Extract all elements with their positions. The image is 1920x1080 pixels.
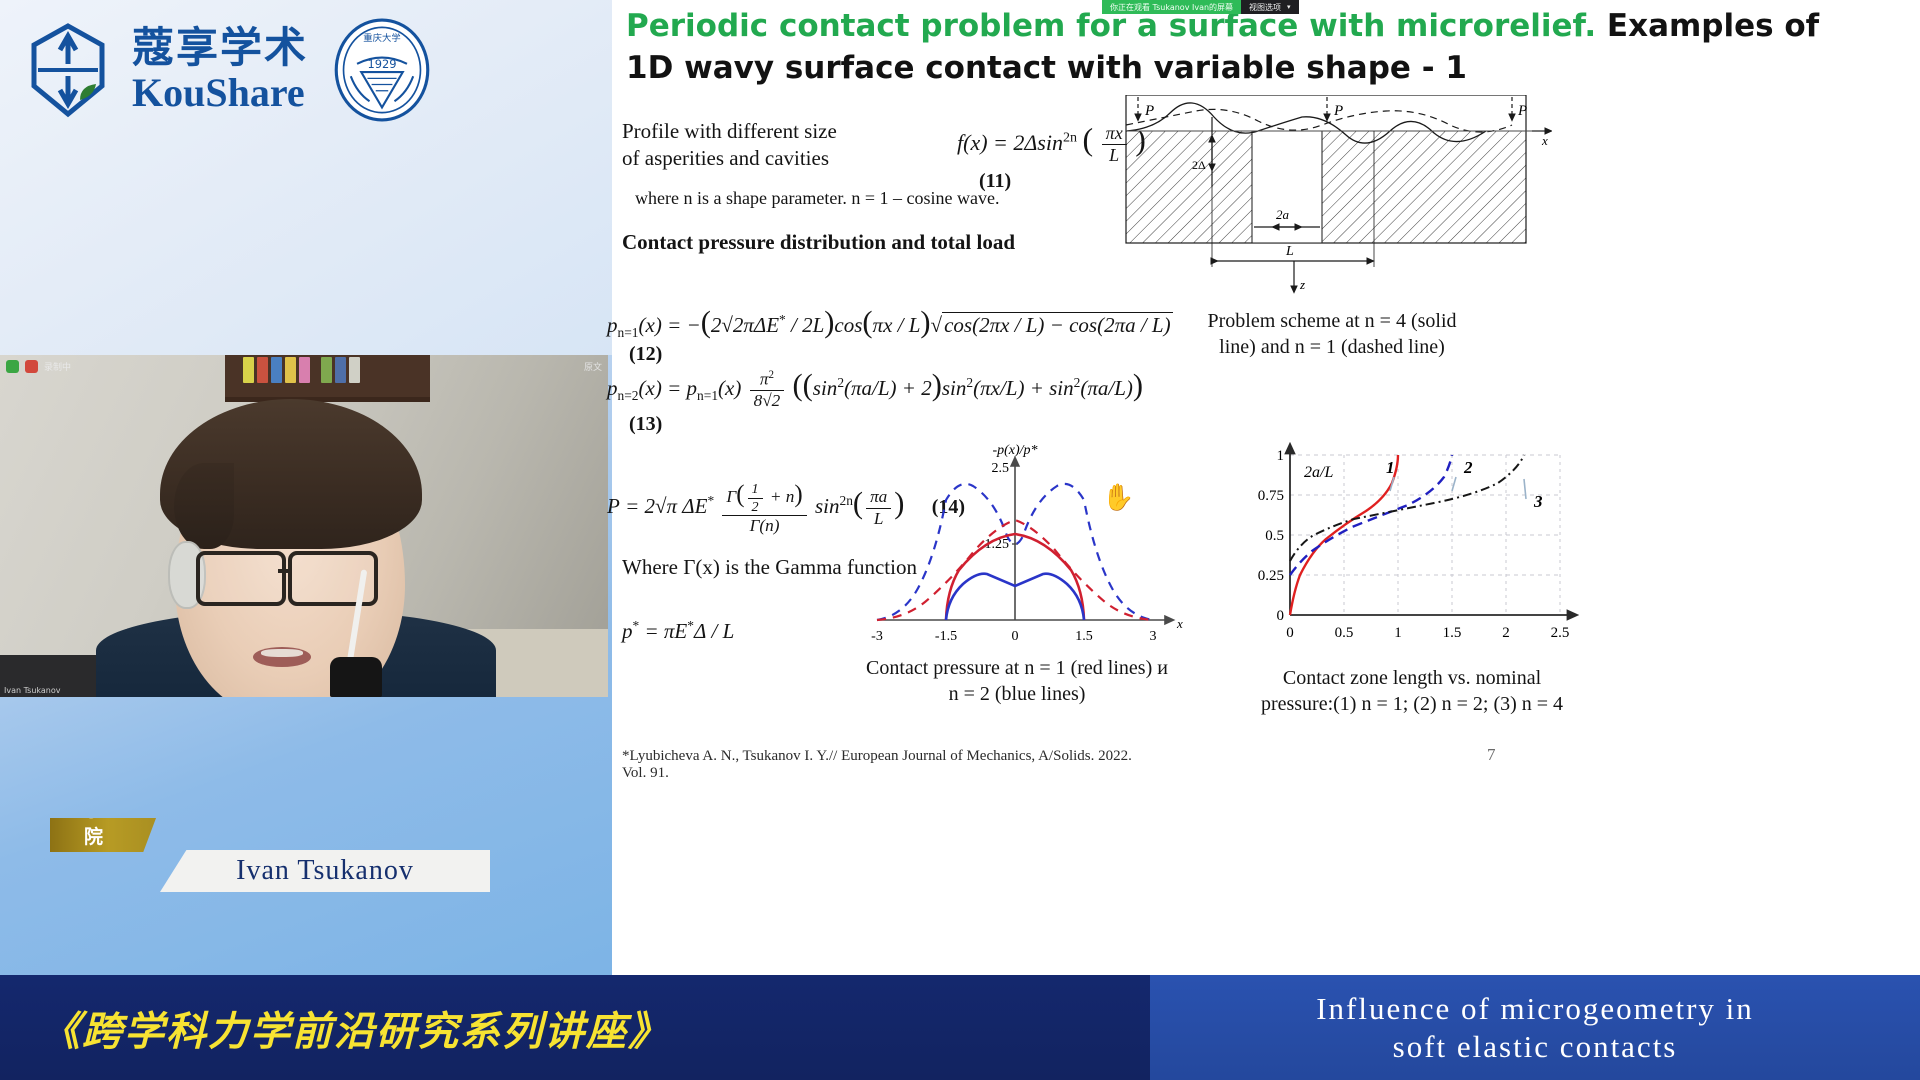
equation-12: pn=1(x) = −(2√2πΔE* / 2L)cos(πx / L)√cos… (607, 305, 1173, 366)
scheme-caption: Problem scheme at n = 4 (solid line) and… (1132, 308, 1532, 360)
brand-wordmark: 蔻享学术 KouShare (132, 27, 308, 113)
chart-b-caption-line1: Contact zone length vs. nominal (1232, 665, 1592, 691)
desk-microphone (330, 657, 382, 697)
chart-a-xtick--1-5: -1.5 (935, 629, 957, 644)
speaker-name-text: Ivan Tsukanov (236, 855, 414, 887)
zoom-screenshare-toolbar: 你正在观看 Tsukanov Ivan的屏幕 视图选项 ▾ (1102, 0, 1299, 14)
view-options-button[interactable]: 视图选项 ▾ (1241, 0, 1299, 14)
webcam-corner-label: 原文 (584, 360, 602, 373)
chart-a-xtick-0: 0 (1012, 629, 1019, 644)
shape-parameter-note: where n is a shape parameter. n = 1 – co… (635, 188, 1000, 209)
chart-a-xtick-1-5: 1.5 (1075, 629, 1093, 644)
chart-b-ytick-0-75: 0.75 (1258, 488, 1284, 504)
chart-b-ytick-0-5: 0.5 (1265, 528, 1284, 544)
speaker-name-band: Ivan Tsukanov (160, 850, 490, 892)
webcam-name-label: Ivan Tsukanov (4, 686, 61, 695)
recording-indicators: 录制中 (6, 360, 71, 373)
chart-b-xtick-2: 2 (1502, 625, 1510, 641)
problem-scheme-diagram: x P P P 2Δ 2a L z (1112, 95, 1552, 300)
chart-a-xtick--3: -3 (871, 629, 883, 644)
recording-label: 录制中 (44, 360, 71, 373)
lecture-title-banner: Influence of microgeometry in soft elast… (1150, 975, 1920, 1080)
chart-a-caption-line2: n = 2 (blue lines) (832, 681, 1202, 707)
svg-text:重庆大学: 重庆大学 (363, 32, 400, 44)
chart-b-series-label-3: 3 (1533, 492, 1543, 511)
scheme-caption-line1: Problem scheme at n = 4 (solid (1132, 308, 1532, 334)
lecture-title-line1: Influence of microgeometry in (1316, 990, 1754, 1028)
contact-zone-length-chart: 1 0.75 0.5 0.25 0 0 0.5 1 1.5 2 2.5 2a/L… (1242, 415, 1582, 645)
left-branding-panel: 蔻享学术 KouShare 1929 重庆大学 (0, 0, 612, 975)
svg-text:P: P (1333, 103, 1343, 119)
p-star-definition: p* = πE*Δ / L (622, 618, 734, 644)
scheme-period-label: L (1285, 244, 1294, 259)
equation-12-tag: (12) (629, 343, 662, 365)
chart-a-xlabel: x (1176, 616, 1183, 631)
slide-page-number: 7 (1487, 745, 1496, 765)
eyeglasses-bridge (278, 569, 290, 573)
screen-share-notice: 你正在观看 Tsukanov Ivan的屏幕 (1102, 0, 1241, 14)
chart-b-ytick-0: 0 (1277, 608, 1285, 624)
affiliation-ribbon: 俄罗斯科学院力学研究所 (50, 818, 156, 852)
svg-text:1929: 1929 (367, 57, 396, 71)
chart-b-ytick-0-25: 0.25 (1258, 568, 1284, 584)
speaker-mouth (253, 647, 311, 667)
chart-b-xtick-0-5: 0.5 (1335, 625, 1354, 641)
scheme-contact-label: 2a (1276, 207, 1290, 222)
series-title-cn: 《跨学科力学前沿研究系列讲座》 (40, 999, 670, 1057)
profile-label-line1: Profile with different size (622, 118, 892, 145)
chart-b-ylabel: 2a/L (1304, 464, 1333, 481)
chart-b-series-label-2: 2 (1463, 458, 1473, 477)
brand-name-cn: 蔻享学术 (132, 27, 308, 69)
logo-row: 蔻享学术 KouShare 1929 重庆大学 (18, 18, 434, 122)
screen-share-window: 蔻享学术 KouShare 1929 重庆大学 (0, 0, 1920, 1080)
chart-a-caption: Contact pressure at n = 1 (red lines) и … (832, 655, 1202, 707)
brand-name-en: KouShare (132, 73, 308, 113)
chart-b-xtick-1: 1 (1394, 625, 1402, 641)
secure-shield-icon (6, 360, 19, 373)
scheme-caption-line2: line) and n = 1 (dashed line) (1132, 334, 1532, 360)
chevron-down-icon: ▾ (1287, 3, 1291, 11)
chart-b-xtick-2-5: 2.5 (1551, 625, 1570, 641)
bottom-banner: 《跨学科力学前沿研究系列讲座》 Influence of microgeomet… (0, 975, 1920, 1080)
eyeglasses-left-lens (196, 551, 286, 606)
scheme-z-label: z (1299, 277, 1305, 292)
hand-cursor: ✋ (1102, 485, 1134, 511)
series-banner: 《跨学科力学前沿研究系列讲座》 (0, 975, 1150, 1080)
chart-b-series-label-1: 1 (1386, 458, 1395, 477)
chart-b-caption-line2: pressure:(1) n = 1; (2) n = 2; (3) n = 4 (1232, 691, 1592, 717)
chart-b-xtick-0: 0 (1286, 625, 1294, 641)
koushare-logo-icon (18, 20, 118, 120)
chart-a-caption-line1: Contact pressure at n = 1 (red lines) и (832, 655, 1202, 681)
svg-text:P: P (1144, 103, 1154, 119)
chongqing-university-seal-icon: 1929 重庆大学 (330, 18, 434, 122)
profile-label: Profile with different size of asperitie… (622, 118, 892, 172)
svg-text:P: P (1517, 103, 1527, 119)
view-options-label: 视图选项 (1249, 2, 1281, 13)
affiliation-text: 俄罗斯科学院力学研究所 (84, 687, 104, 984)
chart-a-xtick-3: 3 (1150, 629, 1157, 644)
record-icon (25, 360, 38, 373)
chart-a-ytick-2-5: 2.5 (992, 461, 1010, 476)
bookshelf (225, 355, 430, 402)
speaker-webcam-video[interactable]: 录制中 原文 Ivan Tsukanov (0, 355, 608, 697)
chart-a-ylabel: -p(x)/p* (992, 443, 1037, 458)
chart-b-caption: Contact zone length vs. nominal pressure… (1232, 665, 1592, 717)
shared-slide: 你正在观看 Tsukanov Ivan的屏幕 视图选项 ▾ Periodic c… (612, 0, 1920, 975)
slide-title-black-1: Examples of (1607, 8, 1819, 44)
slide-footnote: *Lyubicheva A. N., Tsukanov I. Y.// Euro… (622, 748, 1147, 782)
lecture-title-line2: soft elastic contacts (1393, 1028, 1678, 1066)
profile-label-line2: of asperities and cavities (622, 145, 892, 172)
chart-b-xtick-1-5: 1.5 (1443, 625, 1462, 641)
contact-pressure-chart: -p(x)/p* x 2.5 1.25 -3 -1.5 0 1.5 3 (847, 440, 1187, 655)
chart-b-ytick-1: 1 (1277, 448, 1285, 464)
scheme-x-label: x (1541, 133, 1548, 148)
equation-13: pn=2(x) = pn=1(x) π28√2 ((sin2(πa/L) + 2… (607, 368, 1147, 436)
equation-13-tag: (13) (629, 413, 662, 435)
scheme-amplitude-label: 2Δ (1192, 158, 1206, 172)
brand-header: 蔻享学术 KouShare 1929 重庆大学 (0, 0, 612, 355)
section-heading: Contact pressure distribution and total … (622, 230, 1015, 255)
